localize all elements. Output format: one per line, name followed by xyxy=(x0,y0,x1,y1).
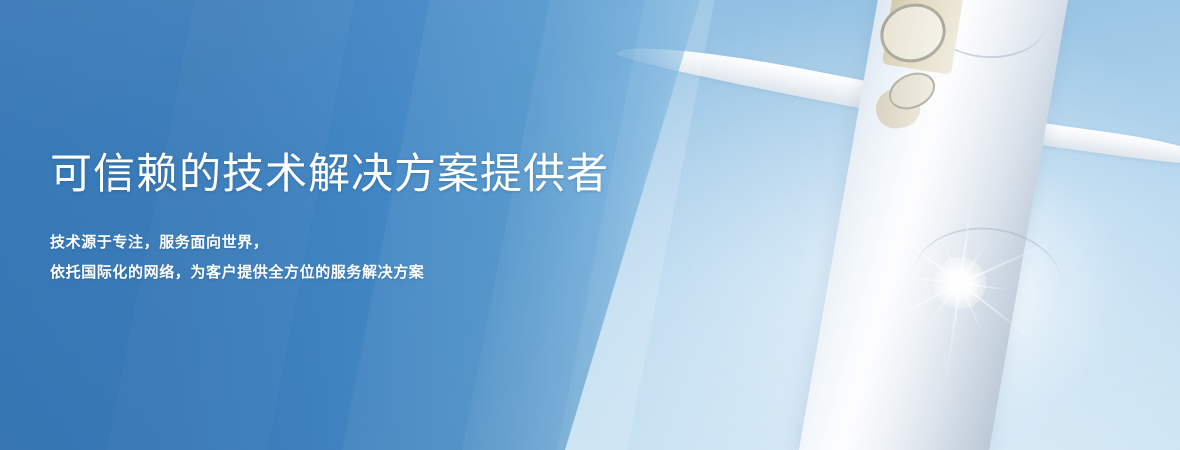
banner-headline: 可信赖的技术解决方案提供者 xyxy=(50,150,650,198)
banner-subtitle-line-1: 技术源于专注，服务面向世界， xyxy=(50,228,650,258)
hero-banner: 可信赖的技术解决方案提供者 技术源于专注，服务面向世界， 依托国际化的网络，为客… xyxy=(0,0,1180,450)
banner-subtitle-line-2: 依托国际化的网络，为客户提供全方位的服务解决方案 xyxy=(50,258,650,288)
banner-copy: 可信赖的技术解决方案提供者 技术源于专注，服务面向世界， 依托国际化的网络，为客… xyxy=(50,150,650,288)
banner-subtitle: 技术源于专注，服务面向世界， 依托国际化的网络，为客户提供全方位的服务解决方案 xyxy=(50,228,650,288)
